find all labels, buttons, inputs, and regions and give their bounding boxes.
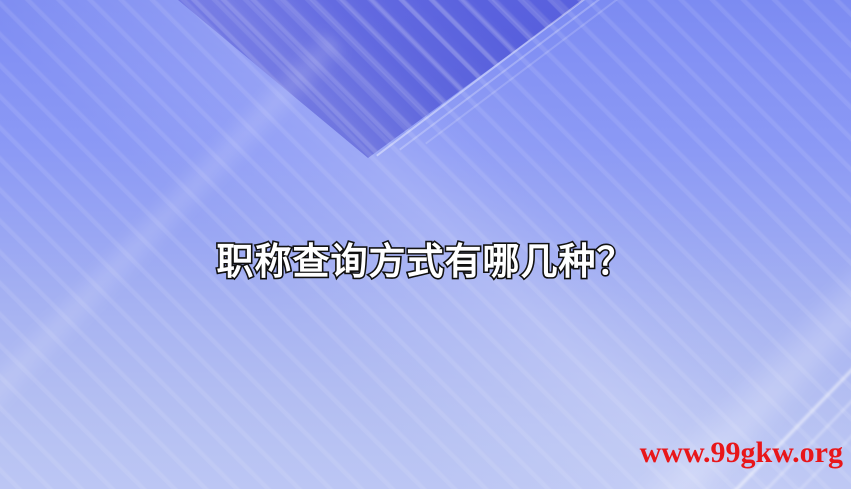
page-title: 职称查询方式有哪几种？ [0,236,851,288]
site-watermark: www.99gkw.org [640,436,843,470]
chevron-wedge-shape [0,0,851,200]
banner-canvas: 职称查询方式有哪几种？ www.99gkw.org [0,0,851,489]
